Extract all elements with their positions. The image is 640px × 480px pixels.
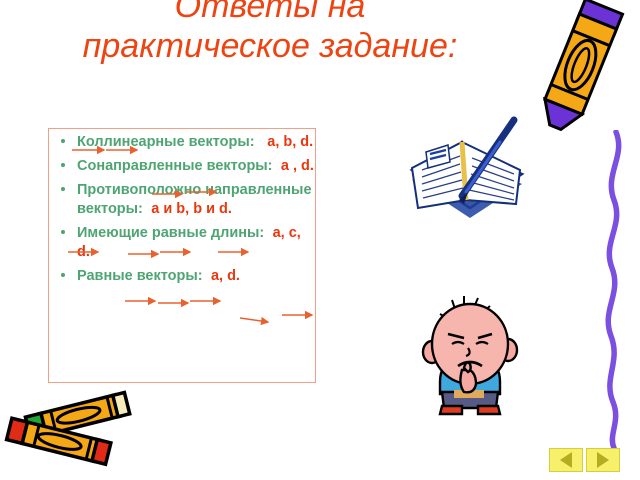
- slide-title: Ответы на практическое задание:: [60, 0, 480, 66]
- thinking-boy-illustration: [414, 292, 526, 418]
- content-text-box: Коллинеарные векторы: a, b, d. Сонаправл…: [48, 128, 316, 383]
- bullet-dot-icon: [61, 273, 65, 277]
- crossed-crayons-icon: [2, 382, 134, 478]
- list-item: Коллинеарные векторы: a, b, d.: [55, 133, 317, 152]
- bullet-label: Равные векторы:: [77, 268, 203, 284]
- list-item: Противоположно направленные векторы: a и…: [55, 181, 317, 219]
- bullet-label: Коллинеарные векторы:: [77, 134, 255, 150]
- triangle-left-icon: [560, 452, 572, 468]
- bullet-dot-icon: [61, 230, 65, 234]
- nav-previous-button[interactable]: [549, 448, 583, 472]
- list-item: Сонаправленные векторы: a , d.: [55, 157, 317, 176]
- list-item: Равные векторы: a, d.: [55, 267, 317, 286]
- presentation-slide: Ответы на практическое задание: Коллинеа…: [0, 0, 640, 480]
- nav-next-button[interactable]: [586, 448, 620, 472]
- answers-bullet-list: Коллинеарные векторы: a, b, d. Сонаправл…: [55, 133, 317, 291]
- bullet-answer: a, b, d.: [267, 134, 313, 150]
- crayon-icon: [524, 0, 636, 136]
- bullet-label: Имеющие равные длины:: [77, 225, 264, 241]
- bullet-answer: a, d.: [211, 268, 240, 284]
- triangle-right-icon: [597, 452, 609, 468]
- bullet-dot-icon: [61, 163, 65, 167]
- bullet-dot-icon: [61, 187, 65, 191]
- bullet-answer: a и b, b и d.: [151, 201, 232, 217]
- list-item: Имеющие равные длины: a, c, d.: [55, 224, 317, 262]
- purple-squiggle-line: [592, 130, 638, 450]
- bullet-answer: a , d.: [281, 158, 314, 174]
- bullet-label: Сонаправленные векторы:: [77, 158, 273, 174]
- open-book-icon: [404, 112, 528, 234]
- bullet-dot-icon: [61, 139, 65, 143]
